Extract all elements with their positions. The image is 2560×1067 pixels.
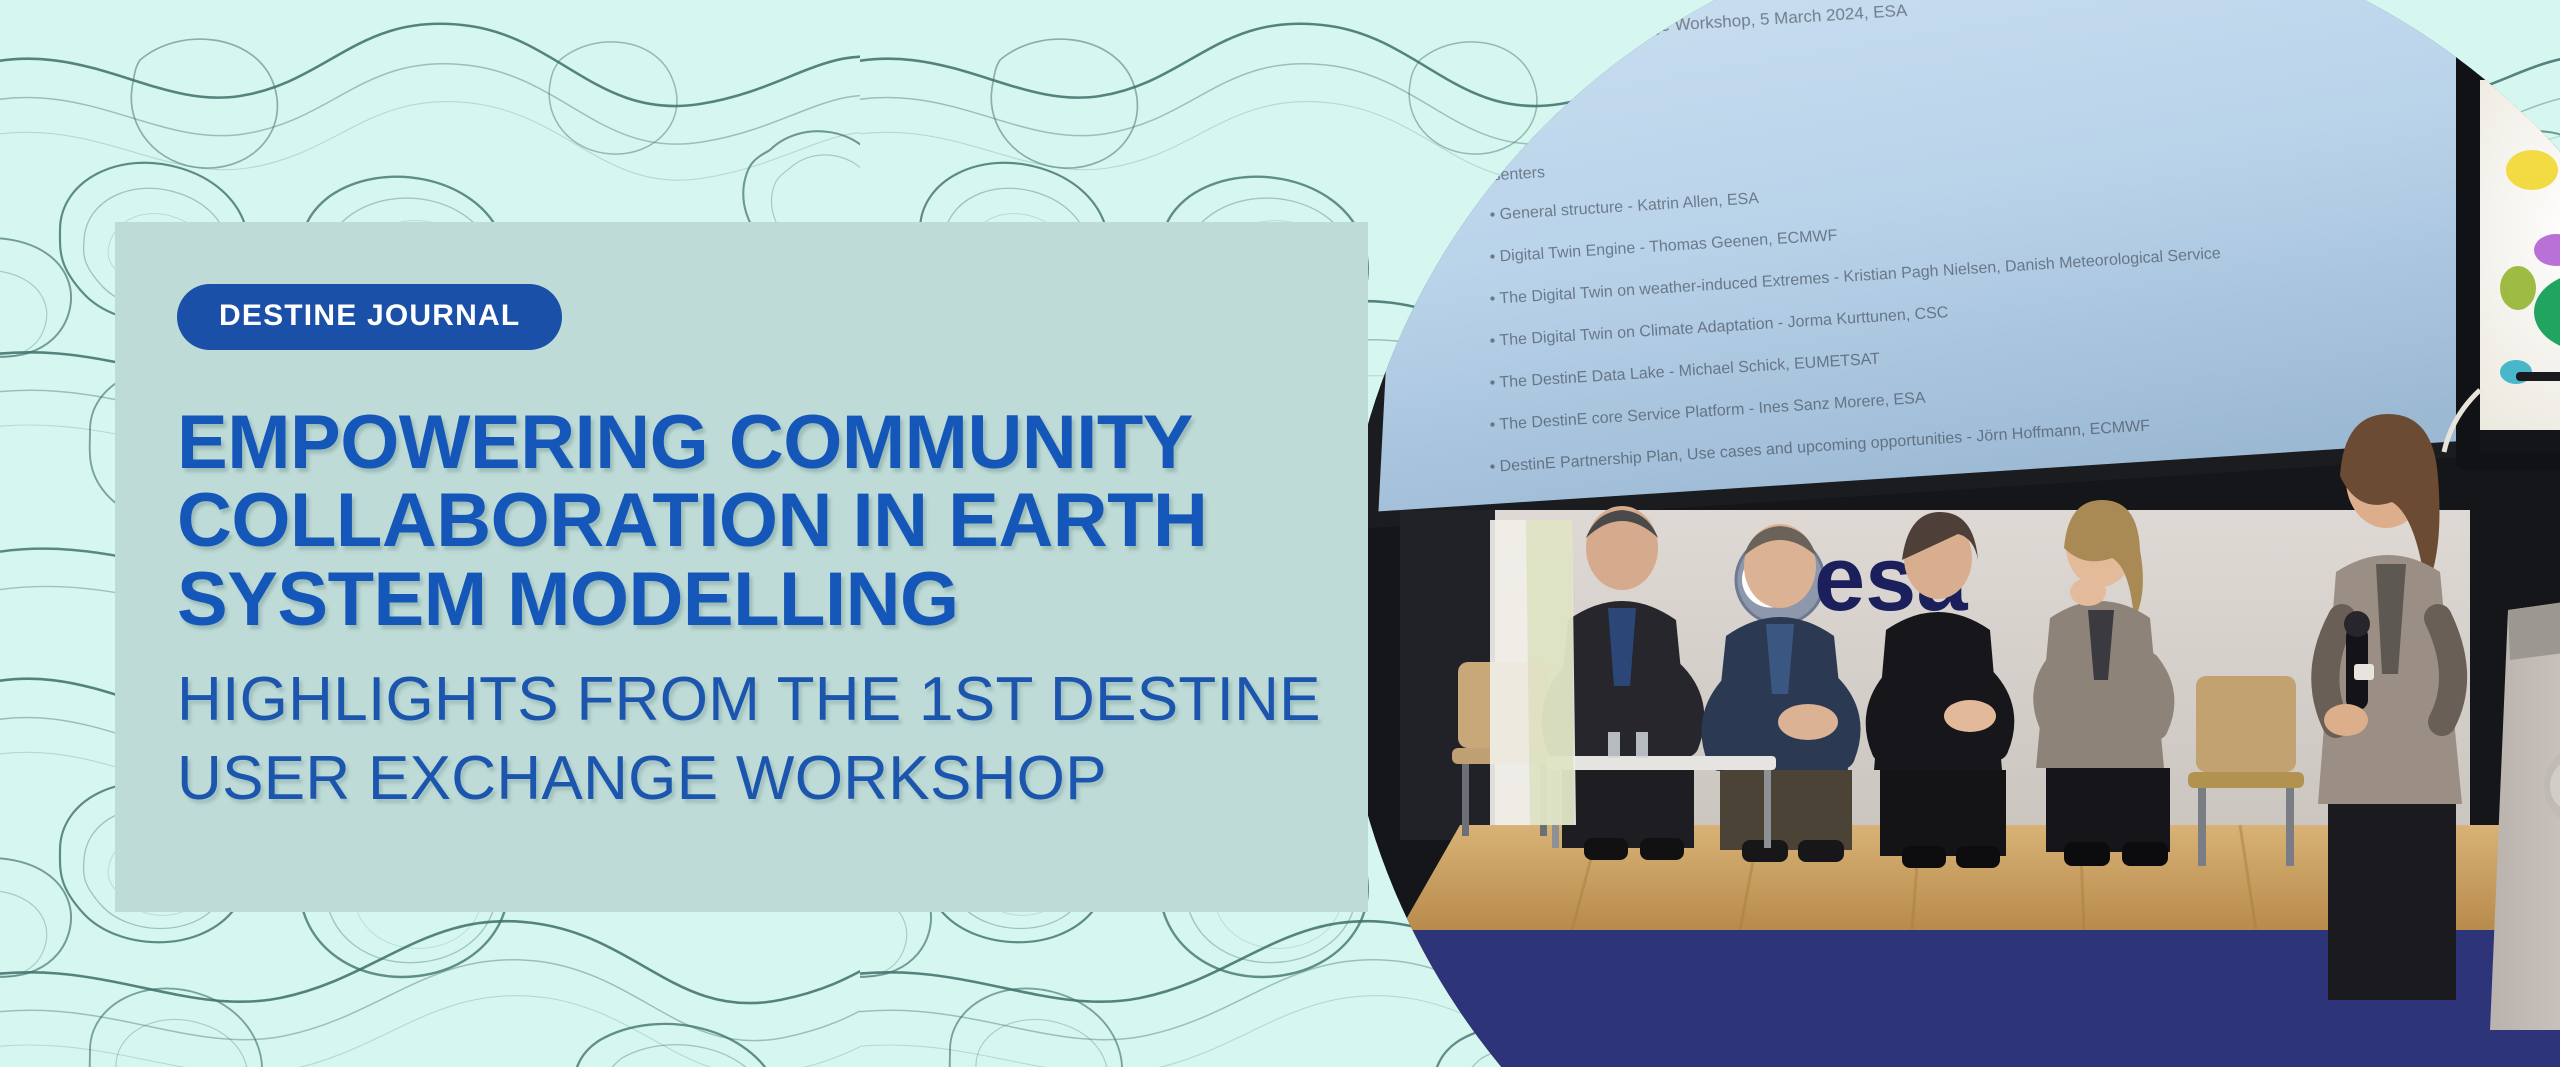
subhead-line-2: USER EXCHANGE WORKSHOP — [177, 739, 1357, 818]
destine-journal-banner: DestinE User Exchange Workshop, 5 March … — [0, 0, 2560, 1067]
page-subtitle: HIGHLIGHTS FROM THE 1ST DESTINE USER EXC… — [177, 660, 1357, 819]
headline-line-1: EMPOWERING COMMUNITY — [177, 404, 1357, 482]
subhead-line-1: HIGHLIGHTS FROM THE 1ST DESTINE — [177, 660, 1357, 739]
headline-line-3: SYSTEM MODELLING — [177, 561, 1357, 639]
conference-photo: DestinE User Exchange Workshop, 5 March … — [1340, 0, 2560, 1067]
page-title: EMPOWERING COMMUNITY COLLABORATION IN EA… — [177, 404, 1357, 639]
destine-journal-badge[interactable]: DESTINE JOURNAL — [177, 284, 562, 350]
headline-line-2: COLLABORATION IN EARTH — [177, 482, 1357, 560]
headline-card: DESTINE JOURNAL EMPOWERING COMMUNITY COL… — [115, 222, 1368, 912]
